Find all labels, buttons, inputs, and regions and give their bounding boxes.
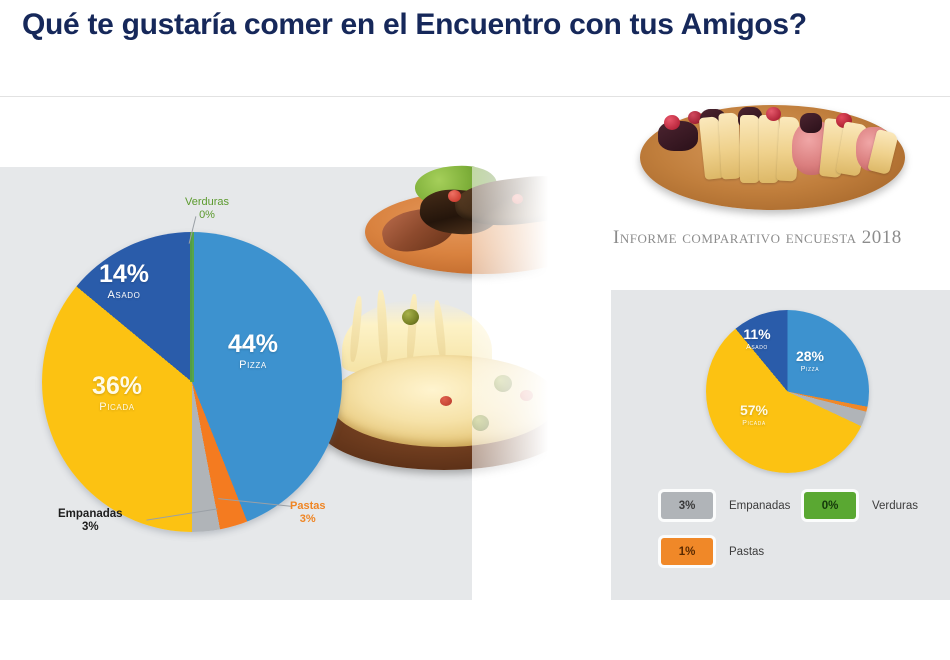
legend-swatch-pastas: 1% [661,538,713,565]
legend-item-verduras[interactable]: 0% Verduras [804,492,918,519]
pizza-olive-3 [560,366,576,381]
main-picada-pct: 36% [62,374,172,399]
main-slice-verduras [190,232,194,382]
main-callout-empanadas: Empanadas 3% [58,508,123,534]
main-callout-pastas: Pastas 3% [290,500,325,525]
page-title: Qué te gustaría comer en el Encuentro co… [22,8,807,42]
asado-tomato-2 [512,194,523,204]
legend-label-empanadas: Empanadas [729,500,790,512]
legend-swatch-empanadas: 3% [661,492,713,519]
comp-picada-name: Picada [722,420,786,427]
comp-asado-pct: 11% [730,327,784,341]
main-slice-label-picada: 36% Picada [62,374,172,413]
main-slice-label-asado: 14% Asado [78,262,170,301]
title-divider [0,96,950,97]
legend-swatch-verduras: 0% [804,492,856,519]
comp-slice-label-pizza: 28% Pizza [780,349,840,373]
pizza-tomato-1 [520,390,533,401]
main-asado-pct: 14% [78,262,170,287]
slide-root: Qué te gustaría comer en el Encuentro co… [0,0,950,660]
picada-board-photo [640,105,905,210]
asado-tomato-1 [448,190,461,202]
legend-label-pastas: Pastas [729,546,764,558]
main-slice-label-pizza: 44% Pizza [198,332,308,371]
main-picada-name: Picada [62,402,172,413]
title-bar: Qué te gustaría comer en el Encuentro co… [0,0,950,97]
comp-picada-pct: 57% [722,403,786,417]
main-pastas-pct: 3% [290,513,325,526]
pizza-olive-4 [472,415,489,431]
pizza-tomato-2 [440,396,452,406]
comp-asado-name: Asado [730,344,784,351]
comp-slice-label-asado: 11% Asado [730,327,784,351]
main-verduras-name: Verduras [185,196,229,209]
main-asado-name: Asado [78,290,170,301]
main-pastas-name: Pastas [290,500,325,513]
legend-label-verduras: Verduras [872,500,918,512]
comp-pizza-pct: 28% [780,349,840,363]
main-empanadas-name: Empanadas [58,508,123,521]
legend-item-pastas[interactable]: 1% Pastas [661,538,764,565]
pizza-olive-1 [402,309,419,325]
main-empanadas-pct: 3% [58,521,123,534]
main-pizza-pct: 44% [198,332,308,357]
legend-item-empanadas[interactable]: 3% Empanadas [661,492,790,519]
main-verduras-pct: 0% [185,209,229,222]
main-callout-verduras: Verduras 0% [185,196,229,221]
main-pizza-name: Pizza [198,360,308,371]
comp-slice-label-picada: 57% Picada [722,403,786,427]
pizza-olive-2 [494,375,512,392]
comp-pizza-name: Pizza [780,366,840,373]
report-subtitle: Informe comparativo encuesta 2018 [613,227,902,249]
